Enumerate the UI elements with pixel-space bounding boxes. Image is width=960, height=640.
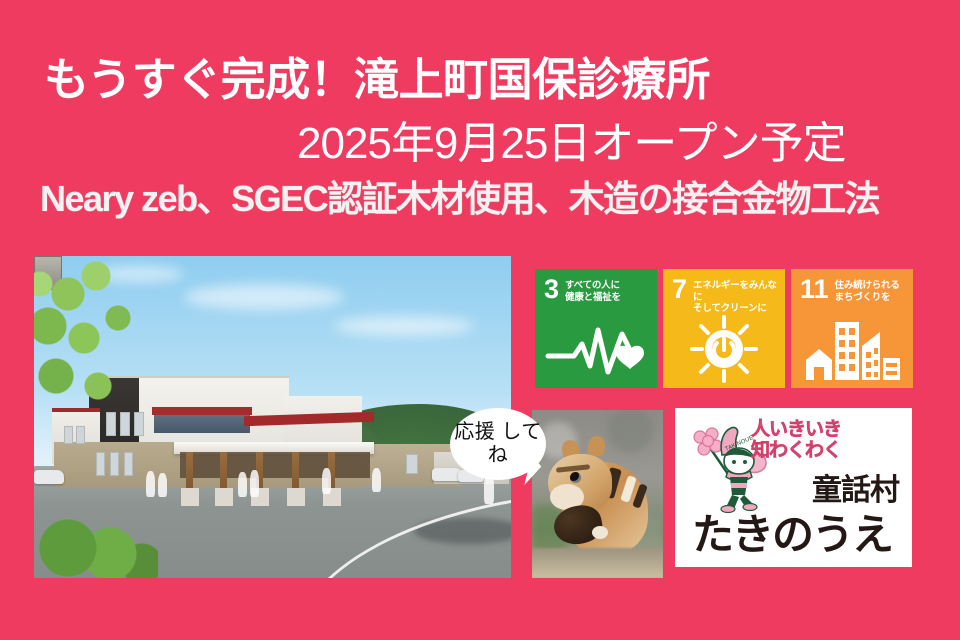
gravel-ground <box>532 548 663 578</box>
chipmunk-eye <box>570 472 581 483</box>
town-logo-tagline: 人いきいき 知わくわく <box>751 419 901 462</box>
headline-line-1: もうすぐ完成！滝上町国保診療所 <box>44 57 710 102</box>
cloud-shape <box>334 316 474 336</box>
poster-canvas: もうすぐ完成！滝上町国保診療所 2025年9月25日オープン予定 Neary z… <box>0 0 960 640</box>
window <box>124 452 133 476</box>
headline-line-2: 2025年9月25日オープン予定 <box>297 122 846 166</box>
sdg-goal-7-label: エネルギーをみんなに そしてクリーンに <box>693 278 785 315</box>
window <box>96 452 105 476</box>
buildings-icon <box>791 318 913 380</box>
parked-car <box>34 470 64 484</box>
speech-bubble: 応援 してね <box>450 408 546 480</box>
column-base <box>181 488 199 506</box>
sdg-goal-3-tile[interactable]: 3 すべての人に 健康と福祉を <box>535 269 657 388</box>
sdg-goal-7-tile[interactable]: 7 エネルギーをみんなに そしてクリーンに <box>663 269 785 388</box>
figure-silhouette <box>322 468 331 494</box>
figure-silhouette <box>238 472 247 497</box>
sdg-goal-11-number: 11 <box>800 278 829 301</box>
heartbeat-heart-icon <box>535 318 657 380</box>
town-logo-title-top: 童話村 <box>812 465 899 509</box>
sdg-goal-3-label: すべての人に 健康と福祉を <box>565 278 621 303</box>
cloud-shape <box>184 284 344 310</box>
sdg-goal-7-number: 7 <box>672 278 687 301</box>
sdg-goal-11-label: 住み続けられる まちづくりを <box>835 278 900 303</box>
window <box>406 454 418 474</box>
tree-foliage <box>34 256 156 446</box>
sdg-goal-3-header: 3 すべての人に 健康と福祉を <box>535 269 657 303</box>
chipmunk-photo <box>532 410 663 578</box>
headline-line-3: Neary zeb、SGEC認証木材使用、木造の接合金物工法 <box>40 181 879 217</box>
figure-silhouette <box>372 468 381 492</box>
column-base <box>215 488 233 506</box>
clerestory-window-band <box>154 415 250 433</box>
town-logo-inner: TAKINOUE 人いきいき 知わくわく <box>680 413 907 562</box>
sdg-goal-11-tile[interactable]: 11 住み続けられる まちづくりを <box>791 269 913 388</box>
speech-bubble-text: 応援 してね <box>450 421 546 467</box>
sdg-goal-row: 3 すべての人に 健康と福祉を 7 エネルギーをみんなに そしてクリーンに <box>535 269 913 388</box>
sun-power-icon <box>663 318 785 380</box>
town-logo-title-bottom: たきのうえ <box>692 514 892 556</box>
sdg-goal-3-number: 3 <box>544 278 559 301</box>
canopy-soffit <box>180 452 370 478</box>
figure-silhouette <box>146 471 155 497</box>
window <box>110 452 119 476</box>
figure-silhouette <box>250 470 259 497</box>
town-logo-card[interactable]: TAKINOUE 人いきいき 知わくわく <box>675 408 912 567</box>
shrub-foliage <box>38 518 158 578</box>
clinic-render-photo <box>34 256 511 578</box>
sdg-goal-7-header: 7 エネルギーをみんなに そしてクリーンに <box>663 269 785 315</box>
sdg-goal-11-header: 11 住み続けられる まちづくりを <box>791 269 913 303</box>
figure-silhouette <box>158 473 167 497</box>
red-roof-band <box>152 407 252 415</box>
chipmunk-paw <box>592 526 608 539</box>
column-base <box>287 488 305 506</box>
